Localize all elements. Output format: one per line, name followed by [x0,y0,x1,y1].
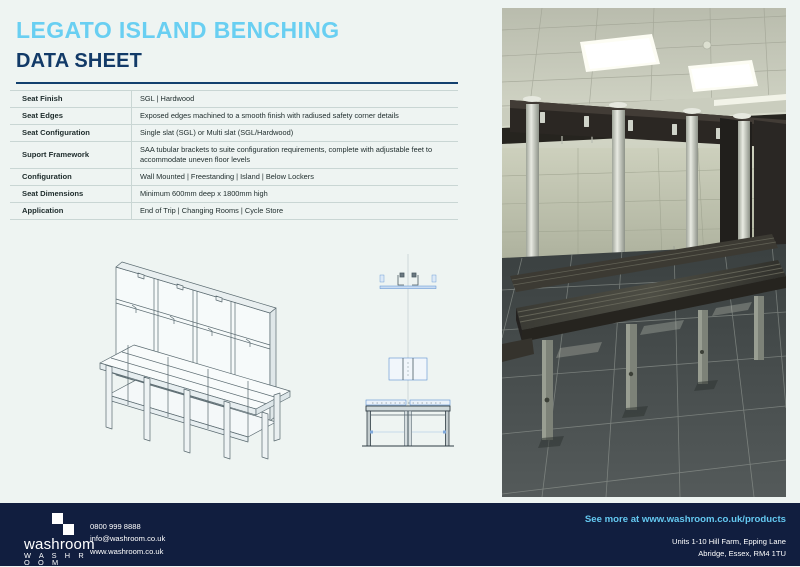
spec-value: SAA tubular brackets to suite configurat… [132,141,459,168]
page-title: LEGATO ISLAND BENCHING [16,18,476,43]
spec-value: Wall Mounted | Freestanding | Island | B… [132,168,459,185]
spec-value: End of Trip | Changing Rooms | Cycle Sto… [132,202,459,219]
washroom-logo[interactable]: washroom W A S H R O O M [24,509,90,561]
isometric-bench-drawing [98,245,338,460]
table-row: Suport Framework SAA tubular brackets to… [10,141,458,168]
spec-value: SGL | Hardwood [132,91,459,108]
elevation-section-drawing [348,250,468,450]
company-address: Units 1-10 Hill Farm, Epping Lane Abridg… [672,536,786,560]
spec-key: Seat Edges [10,107,132,124]
data-sheet-page: LEGATO ISLAND BENCHING DATA SHEET Seat F… [0,0,800,566]
contact-email[interactable]: info@washroom.co.uk [90,533,165,545]
spec-key: Configuration [10,168,132,185]
table-row: Seat Finish SGL | Hardwood [10,91,458,108]
spec-value: Minimum 600mm deep x 1800mm high [132,185,459,202]
table-row: Configuration Wall Mounted | Freestandin… [10,168,458,185]
logo-square-lower-icon [63,524,74,535]
spec-key: Suport Framework [10,141,132,168]
logo-wordmark: washroom [24,537,95,552]
specification-table-body: Seat Finish SGL | Hardwood Seat Edges Ex… [10,91,458,220]
contact-website[interactable]: www.washroom.co.uk [90,546,165,558]
address-line-1: Units 1-10 Hill Farm, Epping Lane [672,536,786,548]
table-row: Seat Configuration Single slat (SGL) or … [10,124,458,141]
spec-value: Exposed edges machined to a smooth finis… [132,107,459,124]
logo-square-upper-icon [52,513,63,524]
see-more-link[interactable]: See more at www.washroom.co.uk/products [585,514,786,525]
product-photo [502,8,786,497]
spec-key: Seat Configuration [10,124,132,141]
specification-table: Seat Finish SGL | Hardwood Seat Edges Ex… [10,90,458,220]
logo-subtext: W A S H R O O M [24,552,90,567]
page-footer: washroom W A S H R O O M 0800 999 8888 i… [0,503,800,566]
table-row: Seat Edges Exposed edges machined to a s… [10,107,458,124]
contact-phone[interactable]: 0800 999 8888 [90,521,165,533]
spec-key: Seat Dimensions [10,185,132,202]
contact-details: 0800 999 8888 info@washroom.co.uk www.wa… [90,521,165,558]
page-title-block: LEGATO ISLAND BENCHING DATA SHEET [16,18,476,72]
title-divider [16,82,458,84]
page-subtitle: DATA SHEET [16,50,476,72]
spec-key: Application [10,202,132,219]
address-line-2: Abridge, Essex, RM4 1TU [672,548,786,560]
table-row: Application End of Trip | Changing Rooms… [10,202,458,219]
spec-key: Seat Finish [10,91,132,108]
table-row: Seat Dimensions Minimum 600mm deep x 180… [10,185,458,202]
spec-value: Single slat (SGL) or Multi slat (SGL/Har… [132,124,459,141]
